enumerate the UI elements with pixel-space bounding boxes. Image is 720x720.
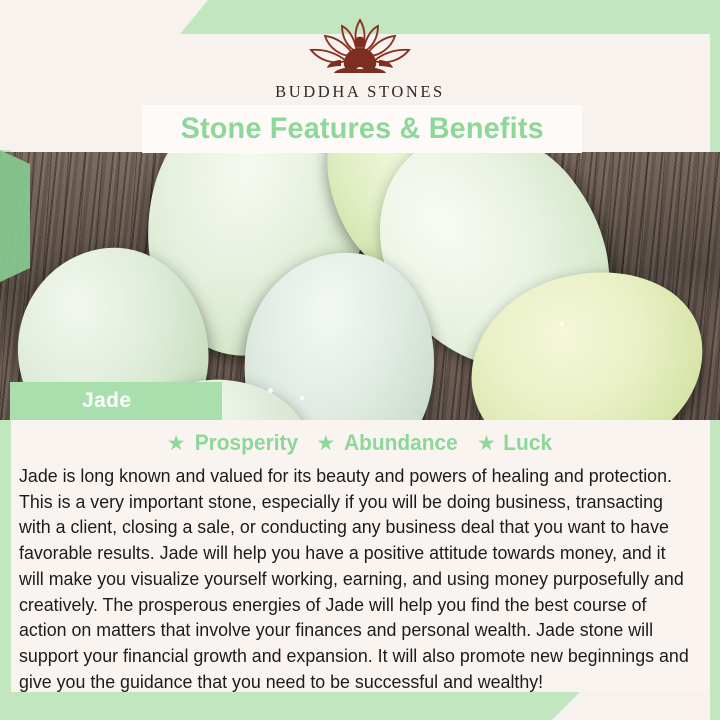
stone-info-card: BUDDHA STONES Stone Features & Benefits … [0,0,720,720]
decor-green-bottom-bar [0,692,580,720]
stone-description: Jade is long known and valued for its be… [19,464,691,695]
brand-logo: BUDDHA STONES [0,16,720,108]
stone-name-band: Jade [10,382,222,420]
feature-label: Prosperity [194,430,297,456]
star-icon: ★ [167,433,186,454]
feature-item: ★ Luck [477,430,553,456]
feature-item: ★ Abundance [316,430,461,456]
lotus-meditation-icon [301,16,419,80]
stone-name: Jade [82,389,131,413]
feature-label: Abundance [344,430,458,456]
feature-list: ★ Prosperity ★ Abundance ★ Luck [17,426,703,460]
star-icon: ★ [316,433,335,454]
stone-glint [560,322,564,326]
star-icon: ★ [477,433,496,454]
content-panel: ★ Prosperity ★ Abundance ★ Luck Jade is … [11,420,709,692]
decor-green-left-tab [0,150,30,282]
feature-item: ★ Prosperity [167,430,301,456]
stone-photo [0,152,720,420]
title-banner: Stone Features & Benefits [142,105,582,153]
brand-name: BUDDHA STONES [275,82,445,102]
page-title: Stone Features & Benefits [180,112,543,146]
stone-glint [268,388,273,393]
stone-glint [300,396,304,400]
feature-label: Luck [503,430,552,456]
